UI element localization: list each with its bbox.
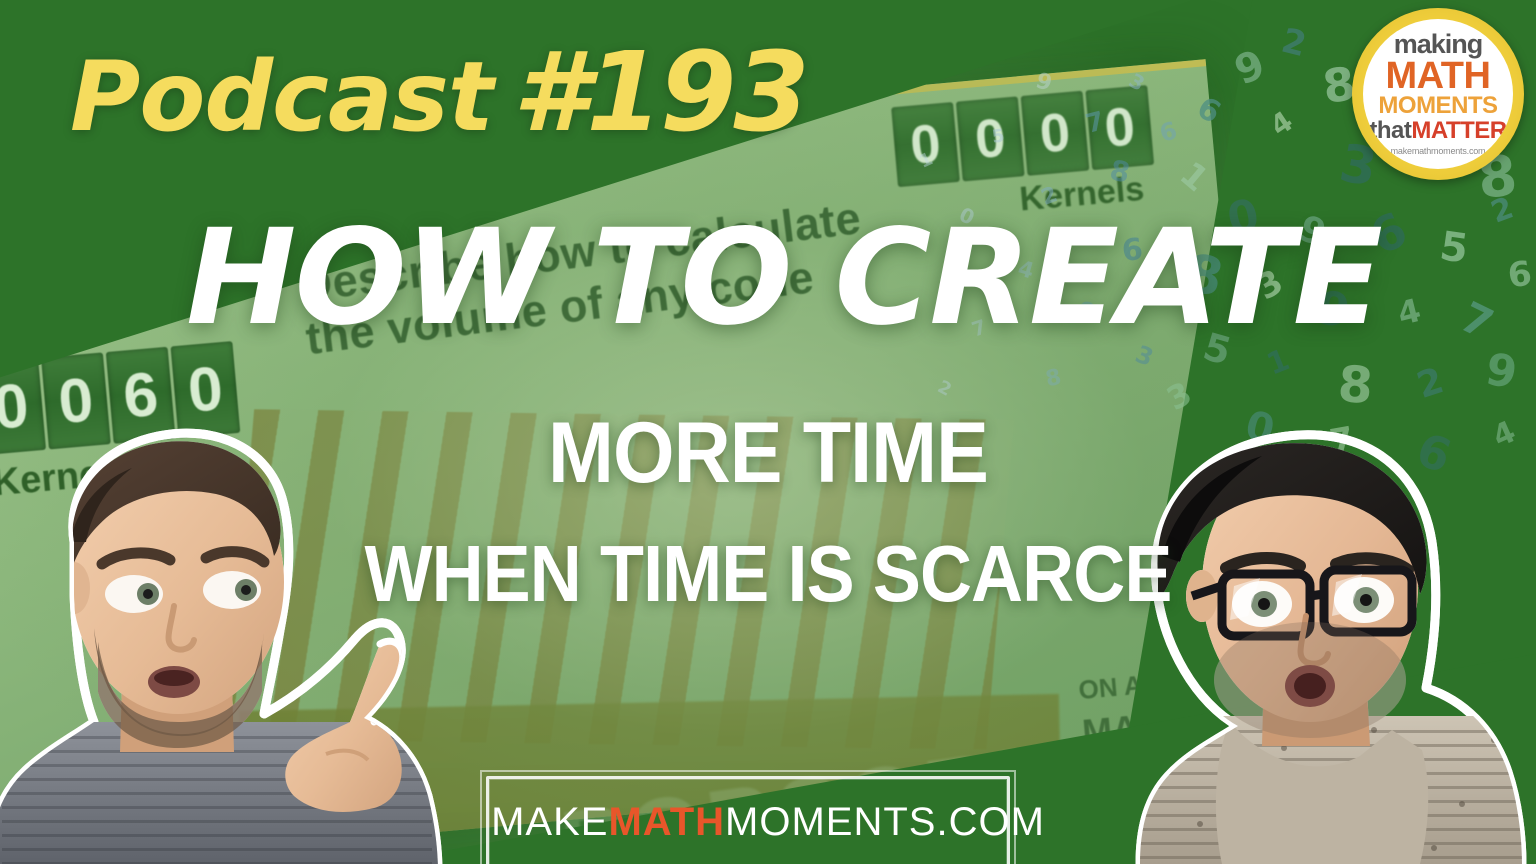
episode-number: #193 [513,28,807,156]
title-line-2: MORE TIME [61,404,1474,503]
brand-logo[interactable]: making MATH MOMENTS thatMATTER makemathm… [1352,8,1524,180]
site-url[interactable]: MAKEMATHMOMENTS.COM [0,800,1536,845]
title-line-1: HOW TO CREATE [186,218,1366,339]
logo-word-matter: MATTER [1411,117,1506,144]
podcast-episode-heading: Podcast#193 [70,28,807,156]
youtube-thumbnail: Describe how to calculate the volume of … [0,0,1536,864]
counter-digit: 0 [891,102,960,187]
logo-line-making: making [1394,32,1483,58]
counter-digit: 0 [1085,85,1154,170]
site-url-prefix: MAKE [491,800,608,844]
site-url-suffix: MOMENTS.COM [725,800,1045,844]
counter-digit: 0 [956,96,1025,181]
podcast-label: Podcast [70,41,493,153]
brand-logo-plate: making MATH MOMENTS thatMATTER makemathm… [1363,19,1513,169]
logo-line-site: makemathmoments.com [1391,146,1486,156]
counter-digit: 0 [1021,91,1090,176]
logo-line-matter: thatMATTER [1369,118,1506,143]
logo-word-that: that [1369,117,1411,144]
logo-line-math: MATH [1386,58,1491,94]
title-line-3: WHEN TIME IS SCARCE [77,528,1459,620]
site-url-accent: MATH [608,800,725,844]
logo-line-moments: MOMENTS [1378,94,1497,118]
